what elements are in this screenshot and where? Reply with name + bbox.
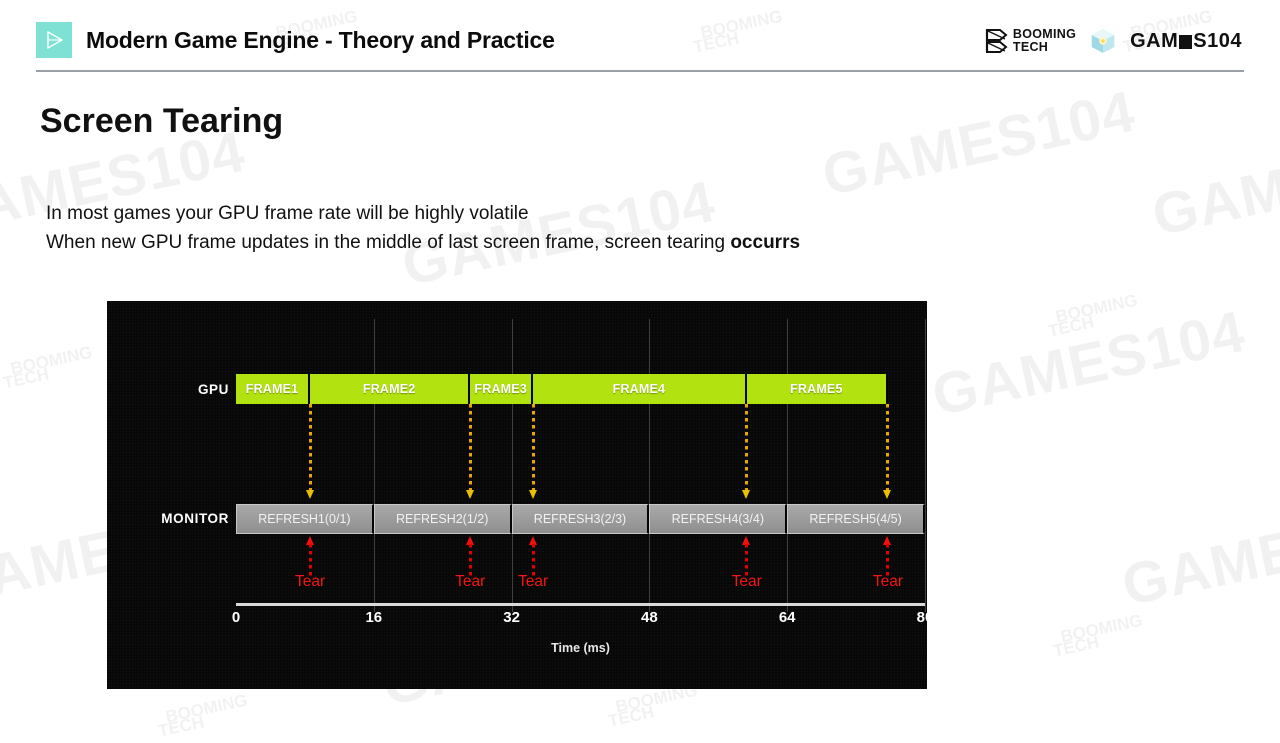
gridline bbox=[374, 319, 375, 612]
body-line-2: When new GPU frame updates in the middle… bbox=[46, 229, 800, 258]
games104-prefix: GAM bbox=[1130, 30, 1178, 53]
tear-label: Tear bbox=[732, 573, 762, 591]
body-line-1: In most games your GPU frame rate will b… bbox=[46, 200, 800, 229]
games104-wordmark: GAM S104 bbox=[1130, 30, 1242, 53]
watermark-booming: TECH bbox=[607, 703, 656, 729]
watermark-booming: BOOMING bbox=[1059, 612, 1144, 646]
tear-label: Tear bbox=[455, 573, 485, 591]
monitor-refresh-block: REFRESH3(2/3) bbox=[512, 504, 650, 534]
booming-tech-text: BOOMING TECH bbox=[1013, 28, 1076, 54]
time-axis-caption: Time (ms) bbox=[236, 641, 925, 655]
gridline bbox=[925, 319, 926, 612]
time-axis-line bbox=[236, 603, 925, 606]
monitor-refresh-block: REFRESH2(1/2) bbox=[374, 504, 512, 534]
gpu-frame-block: FRAME1 bbox=[236, 374, 310, 404]
watermark-booming: TECH bbox=[1052, 633, 1101, 659]
gpu-frame-block: FRAME3 bbox=[470, 374, 533, 404]
booming-tech-logo: BOOMING TECH bbox=[985, 28, 1076, 54]
monitor-refresh-block: REFRESH4(3/4) bbox=[649, 504, 787, 534]
monitor-refresh-block: REFRESH1(0/1) bbox=[236, 504, 374, 534]
frame-swap-arrow-icon bbox=[745, 404, 748, 500]
frame-swap-arrow-icon bbox=[532, 404, 535, 500]
tear-arrow-icon bbox=[532, 536, 535, 576]
header-logos: BOOMING TECH GAM S104 bbox=[985, 26, 1242, 56]
time-axis-tick-label: 32 bbox=[503, 609, 520, 626]
watermark-booming: TECH bbox=[2, 365, 51, 391]
tear-label: Tear bbox=[873, 573, 903, 591]
time-axis-tick-label: 80 bbox=[917, 609, 927, 626]
slide-body-text: In most games your GPU frame rate will b… bbox=[46, 200, 800, 258]
body-line-2-emphasis: occurrs bbox=[730, 232, 800, 253]
brand-block: Modern Game Engine - Theory and Practice bbox=[36, 22, 555, 58]
time-axis-tick-label: 0 bbox=[232, 609, 240, 626]
watermark-booming: BOOMING bbox=[164, 692, 249, 726]
watermark-games104: GAMES104 bbox=[1117, 488, 1280, 620]
page-title: Modern Game Engine - Theory and Practice bbox=[86, 27, 555, 54]
gpu-frame-block: FRAME4 bbox=[533, 374, 747, 404]
gridline bbox=[512, 319, 513, 612]
frame-swap-arrow-icon bbox=[886, 404, 889, 500]
screen-tearing-timeline-diagram: GPU MONITOR Time (ms) FRAME1FRAME2FRAME3… bbox=[107, 301, 927, 689]
watermark-booming: BOOMING bbox=[1054, 292, 1139, 326]
games104-box-glyph bbox=[1179, 35, 1192, 49]
gpu-row-label: GPU bbox=[117, 382, 229, 397]
tear-arrow-icon bbox=[469, 536, 472, 576]
gpu-frame-block: FRAME5 bbox=[747, 374, 888, 404]
frame-swap-arrow-icon bbox=[469, 404, 472, 500]
watermark-booming: TECH bbox=[1047, 313, 1096, 339]
slide-header: Modern Game Engine - Theory and Practice… bbox=[0, 0, 1280, 78]
time-axis-tick-label: 64 bbox=[779, 609, 796, 626]
gpu-frame-block: FRAME2 bbox=[310, 374, 470, 404]
tear-label: Tear bbox=[295, 573, 325, 591]
gridline bbox=[649, 319, 650, 612]
booming-b-icon bbox=[985, 28, 1009, 54]
tear-arrow-icon bbox=[886, 536, 889, 576]
tear-arrow-icon bbox=[745, 536, 748, 576]
monitor-row-label: MONITOR bbox=[111, 511, 229, 526]
monitor-refresh-block: REFRESH5(4/5) bbox=[787, 504, 925, 534]
time-axis-tick-label: 16 bbox=[365, 609, 382, 626]
watermark-games104: GAMES104 bbox=[817, 78, 1141, 210]
gridline bbox=[787, 319, 788, 612]
booming-line-2: TECH bbox=[1013, 41, 1076, 54]
games104-suffix: S104 bbox=[1193, 30, 1242, 53]
slide-title: Screen Tearing bbox=[40, 102, 283, 141]
play-triangle-icon bbox=[36, 22, 72, 58]
watermark-games104: GAMES104 bbox=[1147, 118, 1280, 250]
watermark-booming: BOOMING bbox=[9, 344, 94, 378]
watermark-games104: GAMES104 bbox=[927, 298, 1251, 430]
body-line-2-normal: When new GPU frame updates in the middle… bbox=[46, 232, 730, 253]
header-divider bbox=[36, 70, 1244, 72]
games104-cube-icon bbox=[1088, 26, 1118, 56]
tear-arrow-icon bbox=[309, 536, 312, 576]
frame-swap-arrow-icon bbox=[309, 404, 312, 500]
timeline-plot-area: Time (ms) FRAME1FRAME2FRAME3FRAME4FRAME5… bbox=[236, 301, 925, 689]
tear-label: Tear bbox=[518, 573, 548, 591]
watermark-booming: TECH bbox=[157, 713, 206, 739]
time-axis-tick-label: 48 bbox=[641, 609, 658, 626]
